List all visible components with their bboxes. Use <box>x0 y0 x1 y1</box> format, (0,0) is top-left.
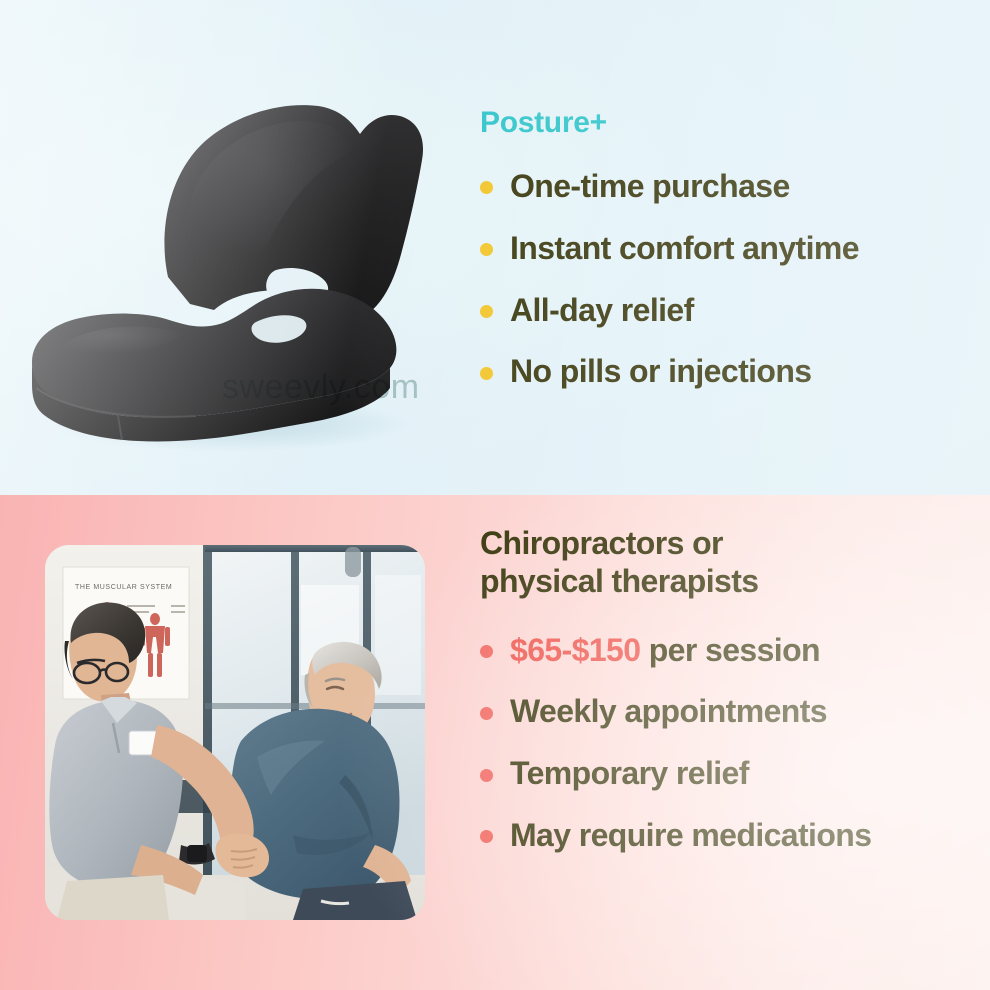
bullet-dot-icon <box>480 769 493 782</box>
list-item: Temporary relief <box>480 756 990 792</box>
alternative-panel: THE MUSCULAR SYSTEM <box>0 495 990 990</box>
svg-text:THE MUSCULAR SYSTEM: THE MUSCULAR SYSTEM <box>75 584 172 591</box>
list-item: Instant comfort anytime <box>480 231 980 267</box>
drawback-list: $65-$150 per session Weekly appointments… <box>480 633 990 854</box>
price-range: $65-$150 <box>510 632 640 668</box>
price-suffix: per session <box>640 632 820 668</box>
drawback-label: Weekly appointments <box>510 694 827 730</box>
therapy-photo: THE MUSCULAR SYSTEM <box>45 545 425 920</box>
list-item: Weekly appointments <box>480 694 990 730</box>
benefit-label: One-time purchase <box>510 169 790 205</box>
list-item: No pills or injections <box>480 354 980 390</box>
drawback-label: May require medications <box>510 818 871 854</box>
bullet-dot-icon <box>480 830 493 843</box>
drawback-label: Temporary relief <box>510 756 749 792</box>
bullet-dot-icon <box>480 645 493 658</box>
benefit-label: No pills or injections <box>510 354 812 390</box>
list-item: $65-$150 per session <box>480 633 990 669</box>
bullet-dot-icon <box>480 707 493 720</box>
bullet-dot-icon <box>480 367 493 380</box>
bullet-dot-icon <box>480 181 493 194</box>
alternative-copy: Chiropractors or physical therapists $65… <box>480 525 990 854</box>
benefit-label: Instant comfort anytime <box>510 231 859 267</box>
product-panel: sweevly.com Posture+ One-time purchase I… <box>0 0 990 495</box>
list-item: May require medications <box>480 818 990 854</box>
section-heading: Chiropractors or physical therapists <box>480 525 990 601</box>
page-title: Posture+ <box>480 106 980 139</box>
benefit-label: All-day relief <box>510 293 694 329</box>
benefit-list: One-time purchase Instant comfort anytim… <box>480 169 980 390</box>
bullet-dot-icon <box>480 305 493 318</box>
product-copy: Posture+ One-time purchase Instant comfo… <box>480 106 980 390</box>
list-item: One-time purchase <box>480 169 980 205</box>
heading-line-1: Chiropractors or <box>480 525 723 561</box>
heading-line-2: physical therapists <box>480 563 759 599</box>
drawback-label: $65-$150 per session <box>510 633 820 669</box>
bullet-dot-icon <box>480 243 493 256</box>
watermark: sweevly.com <box>222 368 420 407</box>
comparison-infographic: sweevly.com Posture+ One-time purchase I… <box>0 0 990 990</box>
list-item: All-day relief <box>480 293 980 329</box>
